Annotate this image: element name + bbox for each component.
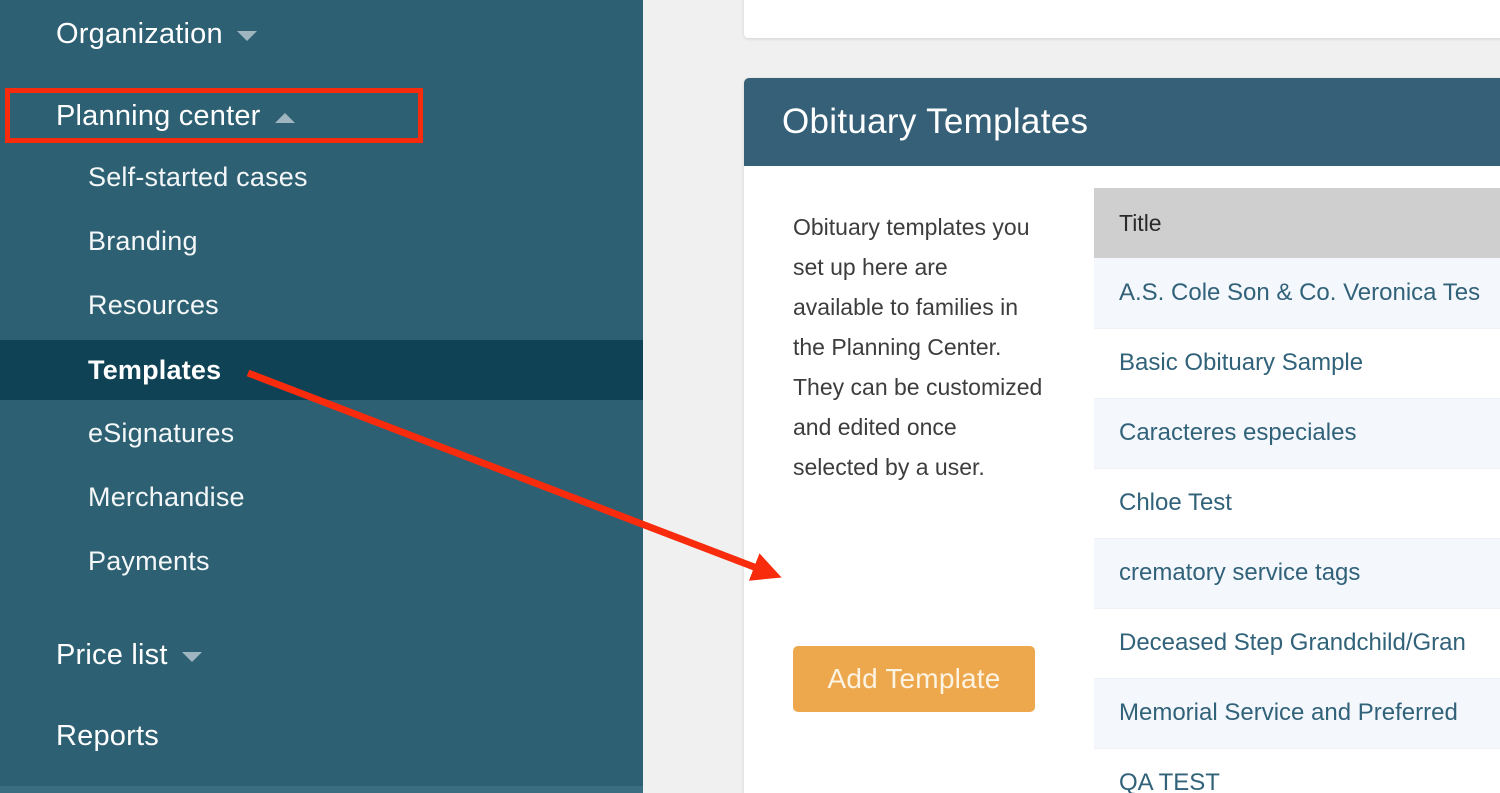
template-link[interactable]: A.S. Cole Son & Co. Veronica Tes <box>1119 279 1480 306</box>
obituary-templates-panel: Obituary Templates Obituary templates yo… <box>744 78 1500 793</box>
sidebar-item-label: Organization <box>56 18 223 51</box>
sidebar-item-label: Price list <box>56 639 168 672</box>
sidebar-bottom-edge <box>0 786 643 793</box>
sidebar-item-organization[interactable]: Organization <box>0 8 643 60</box>
table-cell-title: Basic Obituary Sample <box>1094 328 1500 398</box>
main-content-area: Obituary Templates Obituary templates yo… <box>643 0 1500 793</box>
table-row[interactable]: A.S. Cole Son & Co. Veronica Tes <box>1094 258 1500 328</box>
table-row[interactable]: Deceased Step Grandchild/Gran <box>1094 608 1500 678</box>
partial-card-above <box>744 0 1500 38</box>
sidebar-item-templates[interactable]: Templates <box>0 346 643 394</box>
sidebar-item-label: Self-started cases <box>88 162 308 193</box>
table-body: A.S. Cole Son & Co. Veronica Tes Basic O… <box>1094 258 1500 793</box>
table-cell-title: A.S. Cole Son & Co. Veronica Tes <box>1094 258 1500 328</box>
chevron-up-icon[interactable] <box>275 113 295 123</box>
table-header-row: Title <box>1094 188 1500 258</box>
app-root: Organization Planning center Self-starte… <box>0 0 1500 793</box>
chevron-down-icon[interactable] <box>237 31 257 41</box>
sidebar-navigation: Organization Planning center Self-starte… <box>0 0 643 786</box>
template-link[interactable]: Chloe Test <box>1119 489 1232 516</box>
panel-body: Obituary templates you set up here are a… <box>744 166 1500 793</box>
sidebar-item-label: Resources <box>88 290 219 321</box>
add-template-button[interactable]: Add Template <box>793 646 1035 712</box>
table-row[interactable]: Basic Obituary Sample <box>1094 328 1500 398</box>
sidebar-item-label: Templates <box>88 355 221 386</box>
sidebar-item-label: eSignatures <box>88 418 234 449</box>
sidebar-item-resources[interactable]: Resources <box>0 282 643 328</box>
table-row[interactable]: Memorial Service and Preferred <box>1094 678 1500 748</box>
chevron-down-icon[interactable] <box>182 652 202 662</box>
sidebar-item-planning-center[interactable]: Planning center <box>0 90 643 142</box>
sidebar-item-merchandise[interactable]: Merchandise <box>0 474 643 520</box>
table-cell-title: Chloe Test <box>1094 468 1500 538</box>
column-header-title[interactable]: Title <box>1094 188 1500 258</box>
sidebar-item-label: Branding <box>88 226 198 257</box>
templates-table: Title A.S. Cole Son & Co. Veronica Tes B… <box>1094 188 1500 793</box>
sidebar-item-branding[interactable]: Branding <box>0 218 643 264</box>
sidebar-item-reports[interactable]: Reports <box>0 710 643 762</box>
table-row[interactable]: QA TEST <box>1094 748 1500 793</box>
table-row[interactable]: crematory service tags <box>1094 538 1500 608</box>
page-title: Obituary Templates <box>782 102 1088 142</box>
table-cell-title: QA TEST <box>1094 748 1500 793</box>
template-link[interactable]: Deceased Step Grandchild/Gran <box>1119 629 1466 656</box>
panel-header: Obituary Templates <box>744 78 1500 166</box>
panel-description: Obituary templates you set up here are a… <box>793 207 1043 487</box>
table-cell-title: crematory service tags <box>1094 538 1500 608</box>
sidebar-item-payments[interactable]: Payments <box>0 538 643 584</box>
sidebar-item-label: Planning center <box>56 100 261 133</box>
sidebar-item-label: Reports <box>56 720 159 753</box>
sidebar-item-label: Payments <box>88 546 210 577</box>
table-cell-title: Caracteres especiales <box>1094 398 1500 468</box>
template-link[interactable]: Memorial Service and Preferred <box>1119 699 1458 726</box>
table-cell-title: Deceased Step Grandchild/Gran <box>1094 608 1500 678</box>
sidebar-item-price-list[interactable]: Price list <box>0 629 643 681</box>
table-cell-title: Memorial Service and Preferred <box>1094 678 1500 748</box>
template-link[interactable]: Basic Obituary Sample <box>1119 349 1363 376</box>
sidebar-item-label: Merchandise <box>88 482 245 513</box>
sidebar-item-self-started-cases[interactable]: Self-started cases <box>0 154 643 200</box>
table-row[interactable]: Chloe Test <box>1094 468 1500 538</box>
table-head: Title <box>1094 188 1500 258</box>
template-link[interactable]: QA TEST <box>1119 769 1220 793</box>
template-link[interactable]: crematory service tags <box>1119 559 1360 586</box>
description-column: Obituary templates you set up here are a… <box>793 184 1043 510</box>
sidebar-item-esignatures[interactable]: eSignatures <box>0 410 643 456</box>
table-row[interactable]: Caracteres especiales <box>1094 398 1500 468</box>
template-link[interactable]: Caracteres especiales <box>1119 419 1356 446</box>
